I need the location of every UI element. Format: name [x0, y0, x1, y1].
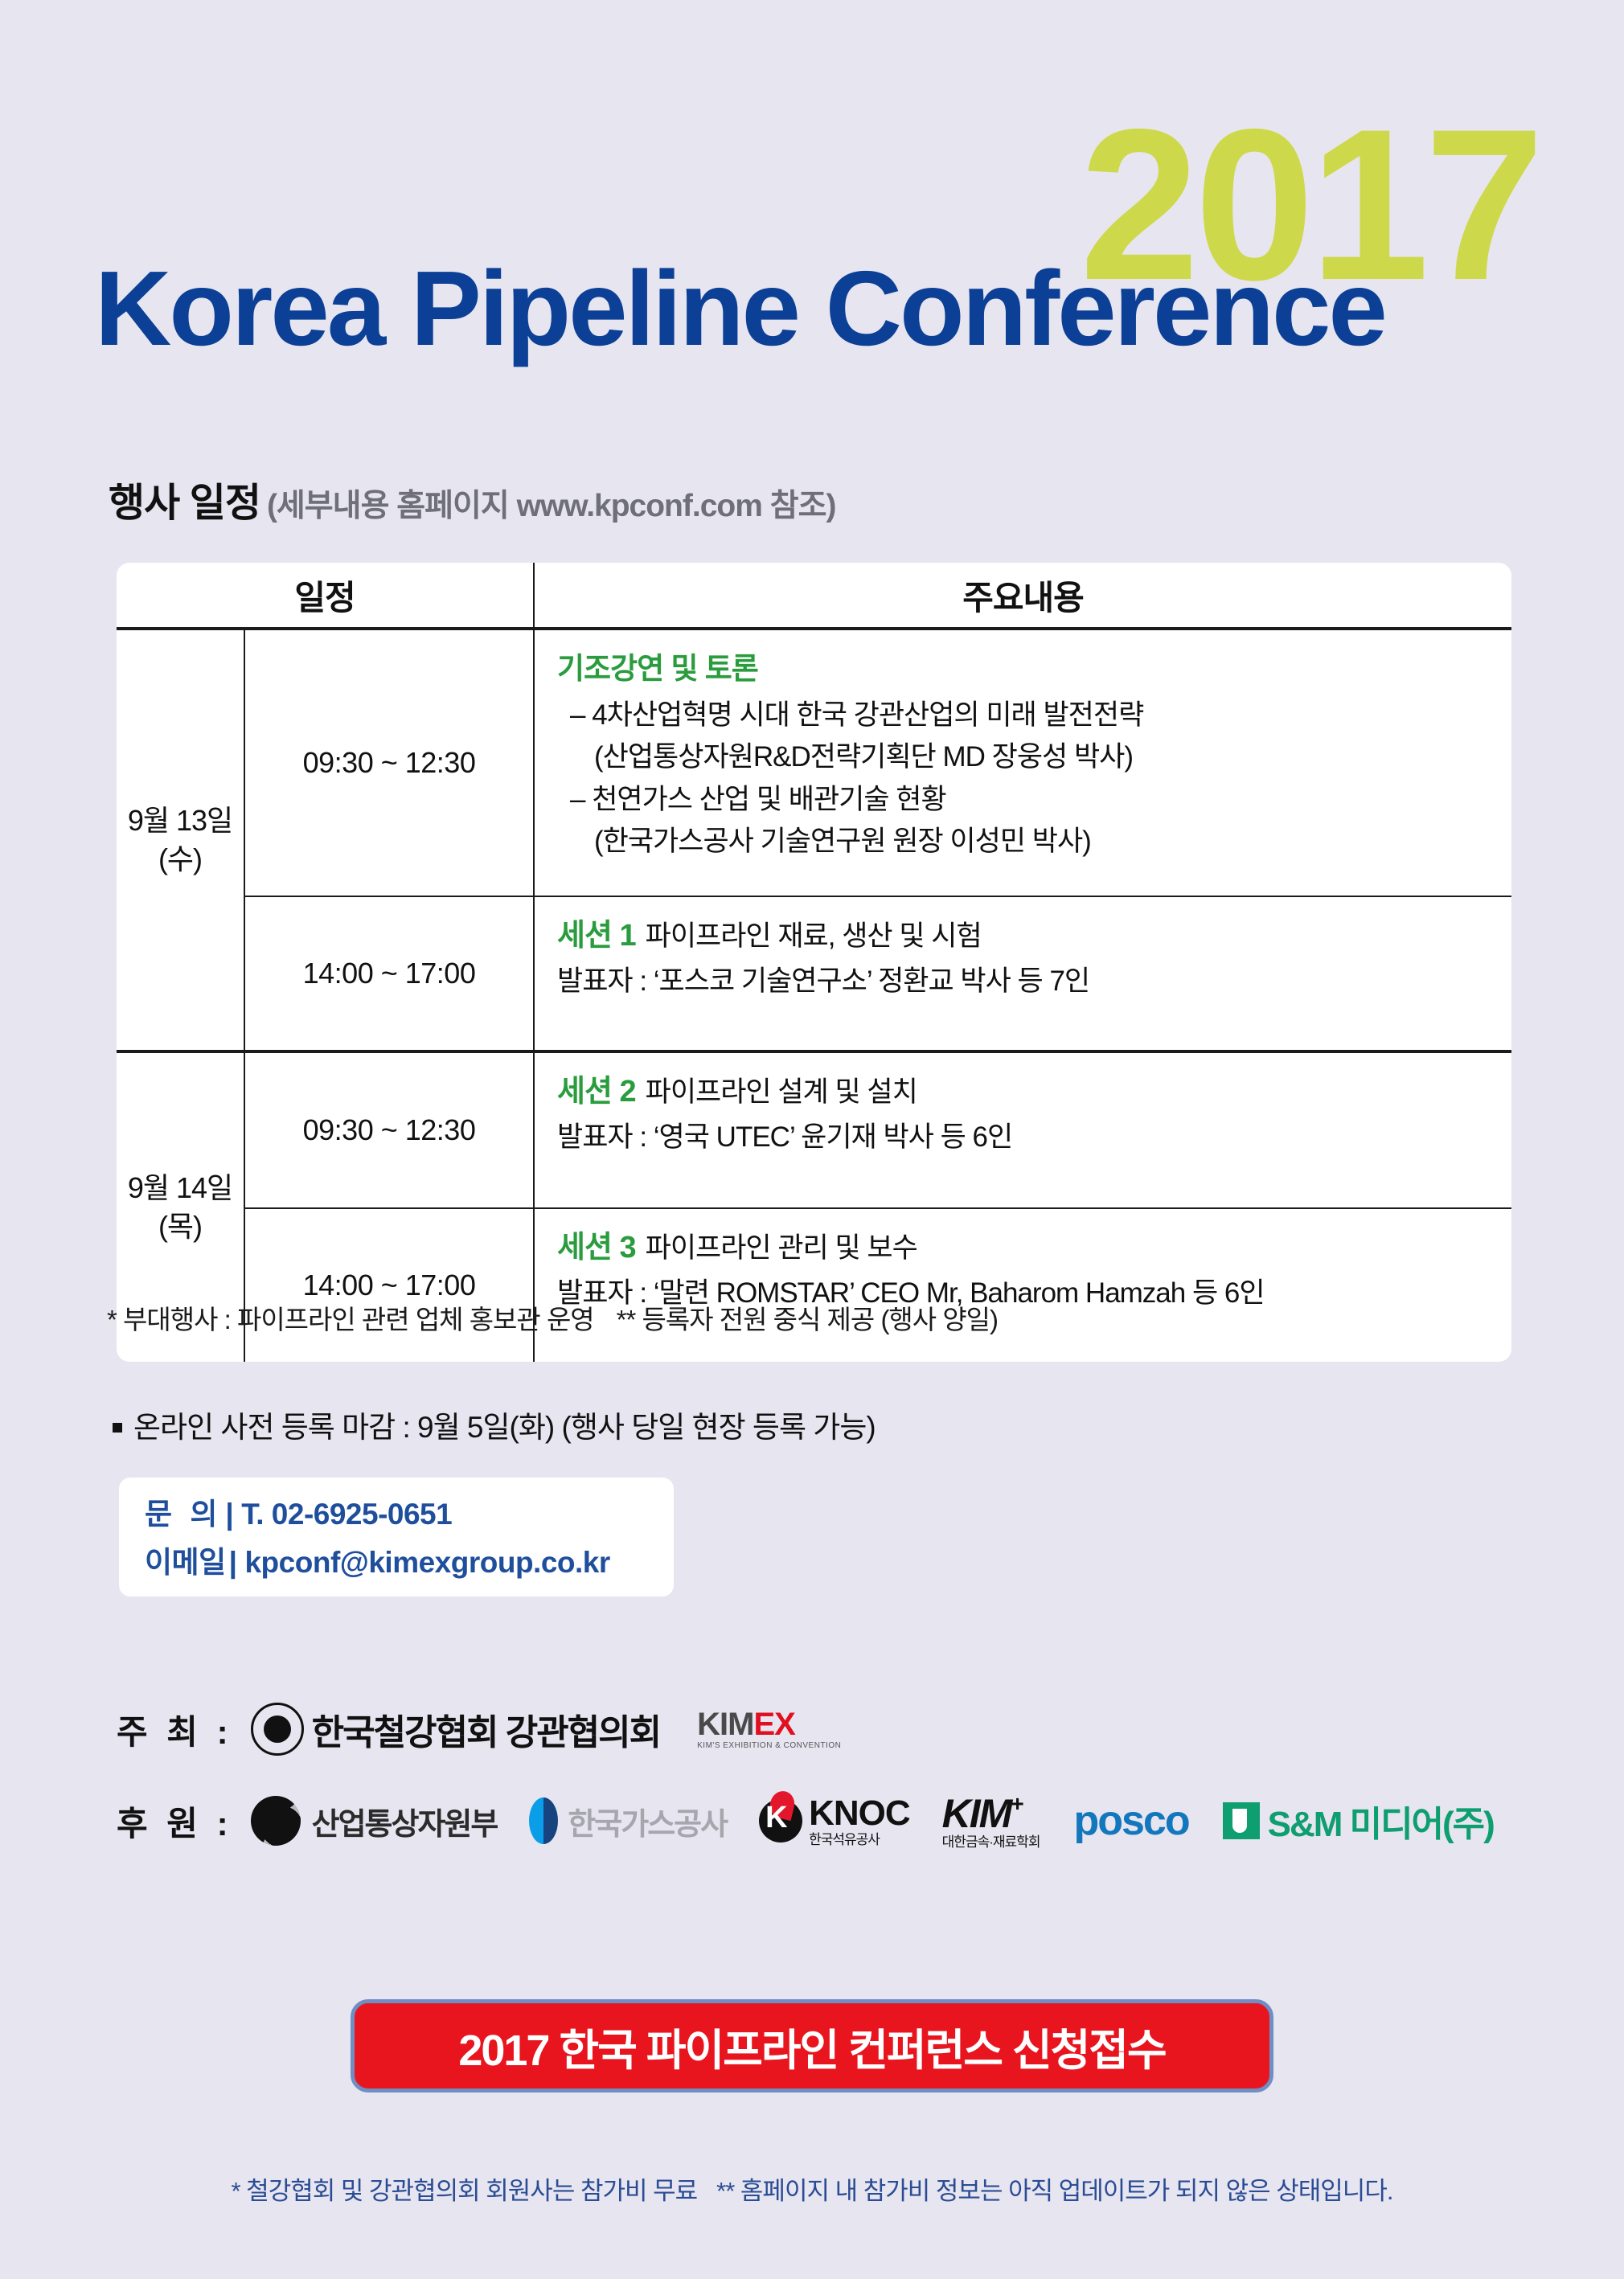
- sponsor-name: 산업통상자원부: [312, 1799, 498, 1843]
- footer-note-2: ** 홈페이지 내 참가비 정보는 아직 업데이트가 되지 않은 상태입니다.: [716, 2177, 1392, 2205]
- kimex-logo-part1: KIM: [697, 1707, 753, 1742]
- organizer-row: 주 최 : 한국철강협회 강관협의회 KIMEX KIM'S EXHIBITIO…: [117, 1703, 841, 1756]
- session-heading: 세션 1파이프라인 재료, 생산 및 시험: [557, 913, 1503, 959]
- keynote-bullet: – 4차산업혁명 시대 한국 강관산업의 미래 발전전략: [557, 695, 1503, 737]
- column-header-content: 주요내용: [535, 563, 1511, 627]
- footer-note-1: * 철강협회 및 강관협의회 회원사는 참가비 무료: [232, 2177, 698, 2205]
- registration-cta-label: 2017 한국 파이프라인 컨퍼런스 신청접수: [458, 2015, 1165, 2078]
- registration-cta-button[interactable]: 2017 한국 파이프라인 컨퍼런스 신청접수: [351, 1999, 1273, 2092]
- sponsor-role-label: 후 원 :: [117, 1797, 233, 1846]
- sponsor-name: S&M 미디어(주): [1268, 1795, 1494, 1847]
- session-topic: 파이프라인 재료, 생산 및 시험: [646, 920, 982, 952]
- square-bullet-icon: [113, 1423, 122, 1433]
- knoc-icon: [759, 1799, 802, 1842]
- registration-deadline-text: 온라인 사전 등록 마감 : 9월 5일(화) (행사 당일 현장 등록 가능): [133, 1411, 876, 1444]
- footnote-side-event: * 부대행사 : 파이프라인 관련 업체 홍보관 운영: [107, 1305, 594, 1334]
- organizer-role-label: 주 최 :: [117, 1705, 233, 1754]
- contact-box: 문 의|T. 02-6925-0651 이메일|kpconf@kimexgrou…: [119, 1478, 674, 1597]
- sponsor-motie: 산업통상자원부: [251, 1796, 498, 1846]
- column-header-date: 일정: [117, 563, 535, 627]
- session-tag: 세션 3: [557, 1231, 636, 1265]
- time-cell: 14:00 ~ 17:00: [245, 1209, 535, 1362]
- sponsor-name: KNOC: [809, 1793, 910, 1833]
- session-tag: 세션 1: [557, 919, 636, 953]
- session-topic: 파이프라인 설계 및 설치: [646, 1076, 917, 1108]
- time-cell: 09:30 ~ 12:30: [245, 1053, 535, 1207]
- date-line-2: (목): [158, 1207, 202, 1246]
- schedule-heading: 행사 일정(세부내용 홈페이지 www.kpconf.com 참조): [109, 484, 835, 523]
- motie-taegeuk-icon: [251, 1796, 301, 1846]
- sponsor-kogas: 한국가스공사: [529, 1797, 727, 1844]
- schedule-footnotes: * 부대행사 : 파이프라인 관련 업체 홍보관 운영** 등록자 전원 중식 …: [107, 1298, 998, 1337]
- page-title: Korea Pipeline Conference: [95, 256, 1385, 362]
- schedule-table: 일정 주요내용 9월 13일 (수) 09:30 ~ 12:30 기조강연 및 …: [117, 563, 1511, 1362]
- contact-phone-value: T. 02-6925-0651: [241, 1498, 452, 1531]
- keynote-bullet-detail: (산업통상자원R&D전략기획단 MD 장웅성 박사): [557, 736, 1503, 779]
- content-cell: 세션 3파이프라인 관리 및 보수 발표자 : ‘말련 ROMSTAR’ CEO…: [535, 1209, 1511, 1362]
- time-cell: 09:30 ~ 12:30: [245, 630, 535, 896]
- contact-separator: |: [229, 1546, 237, 1579]
- content-cell: 기조강연 및 토론 – 4차산업혁명 시대 한국 강관산업의 미래 발전전략 (…: [535, 630, 1511, 896]
- time-cell: 14:00 ~ 17:00: [245, 897, 535, 1050]
- session-topic: 파이프라인 관리 및 보수: [646, 1232, 917, 1264]
- sponsor-name: 한국가스공사: [568, 1799, 727, 1843]
- contact-separator: |: [225, 1498, 233, 1531]
- contact-email-value[interactable]: kpconf@kimexgroup.co.kr: [244, 1546, 609, 1579]
- schedule-heading-main: 행사 일정: [109, 482, 260, 525]
- sponsor-subname: 한국석유공사: [809, 1833, 910, 1847]
- contact-email-row: 이메일|kpconf@kimexgroup.co.kr: [145, 1539, 674, 1587]
- keynote-bullet: – 천연가스 산업 및 배관기술 현황: [557, 779, 1503, 822]
- footer-notes: * 철강협회 및 강관협의회 회원사는 참가비 무료** 홈페이지 내 참가비 …: [232, 2170, 1393, 2207]
- sponsor-knoc: KNOC 한국석유공사: [759, 1796, 910, 1847]
- sponsor-row: 후 원 : 산업통상자원부 한국가스공사 KNOC 한국석유공사 KIM+ 대한…: [117, 1793, 1494, 1849]
- session-heading: 세션 3파이프라인 관리 및 보수: [557, 1225, 1503, 1271]
- snm-icon: [1223, 1802, 1260, 1839]
- table-header-row: 일정 주요내용: [117, 563, 1511, 630]
- session-speakers: 발표자 : ‘영국 UTEC’ 윤기재 박사 등 6인: [557, 1117, 1503, 1159]
- session-heading: 세션 2파이프라인 설계 및 설치: [557, 1069, 1503, 1115]
- session-speakers: 발표자 : ‘포스코 기술연구소’ 정환교 박사 등 7인: [557, 961, 1503, 1003]
- kimex-logo-part2: EX: [753, 1707, 794, 1742]
- content-cell: 세션 2파이프라인 설계 및 설치 발표자 : ‘영국 UTEC’ 윤기재 박사…: [535, 1053, 1511, 1207]
- date-line-1: 9월 14일: [128, 1169, 232, 1207]
- kogas-icon: [529, 1797, 558, 1844]
- table-row: 09:30 ~ 12:30 기조강연 및 토론 – 4차산업혁명 시대 한국 강…: [245, 630, 1511, 896]
- posco-icon: posco: [1073, 1800, 1188, 1842]
- sponsor-kim: KIM+ 대한금속·재료학회: [942, 1793, 1040, 1849]
- footnote-lunch: ** 등록자 전원 중식 제공 (행사 양일): [617, 1305, 998, 1334]
- registration-deadline: 온라인 사전 등록 마감 : 9월 5일(화) (행사 당일 현장 등록 가능): [113, 1403, 876, 1446]
- table-row: 09:30 ~ 12:30 세션 2파이프라인 설계 및 설치 발표자 : ‘영…: [245, 1053, 1511, 1207]
- contact-phone-label: 문 의: [145, 1498, 222, 1531]
- sponsor-subname: 대한금속·재료학회: [942, 1835, 1040, 1849]
- session-tag: 세션 2: [557, 1075, 636, 1109]
- date-cell: 9월 13일 (수): [117, 630, 245, 1050]
- content-cell: 세션 1파이프라인 재료, 생산 및 시험 발표자 : ‘포스코 기술연구소’ …: [535, 897, 1511, 1050]
- keynote-title: 기조강연 및 토론: [557, 646, 1503, 691]
- poster-header: 2017 Korea Pipeline Conference: [0, 0, 1624, 450]
- kimex-logo-icon: KIMEX KIM'S EXHIBITION & CONVENTION: [697, 1708, 841, 1750]
- day-group: 9월 13일 (수) 09:30 ~ 12:30 기조강연 및 토론 – 4차산…: [117, 630, 1511, 1050]
- schedule-heading-sub: (세부내용 홈페이지 www.kpconf.com 참조): [267, 489, 836, 523]
- date-line-2: (수): [158, 840, 202, 879]
- table-row: 14:00 ~ 17:00 세션 3파이프라인 관리 및 보수 발표자 : ‘말…: [245, 1207, 1511, 1362]
- organizer-name: 한국철강협회 강관협의회: [312, 1703, 661, 1755]
- keynote-bullet-detail: (한국가스공사 기술연구원 원장 이성민 박사): [557, 821, 1503, 863]
- sponsor-name: KIM: [942, 1791, 1011, 1836]
- contact-phone-row: 문 의|T. 02-6925-0651: [145, 1490, 674, 1539]
- sponsor-snm: S&M 미디어(주): [1223, 1795, 1494, 1847]
- date-line-1: 9월 13일: [128, 801, 232, 840]
- kosa-seal-icon: [251, 1703, 304, 1756]
- kimex-logo-tagline: KIM'S EXHIBITION & CONVENTION: [697, 1742, 841, 1750]
- contact-email-label: 이메일: [145, 1546, 226, 1579]
- table-row: 14:00 ~ 17:00 세션 1파이프라인 재료, 생산 및 시험 발표자 …: [245, 896, 1511, 1050]
- kim-plus-icon: +: [1011, 1791, 1023, 1816]
